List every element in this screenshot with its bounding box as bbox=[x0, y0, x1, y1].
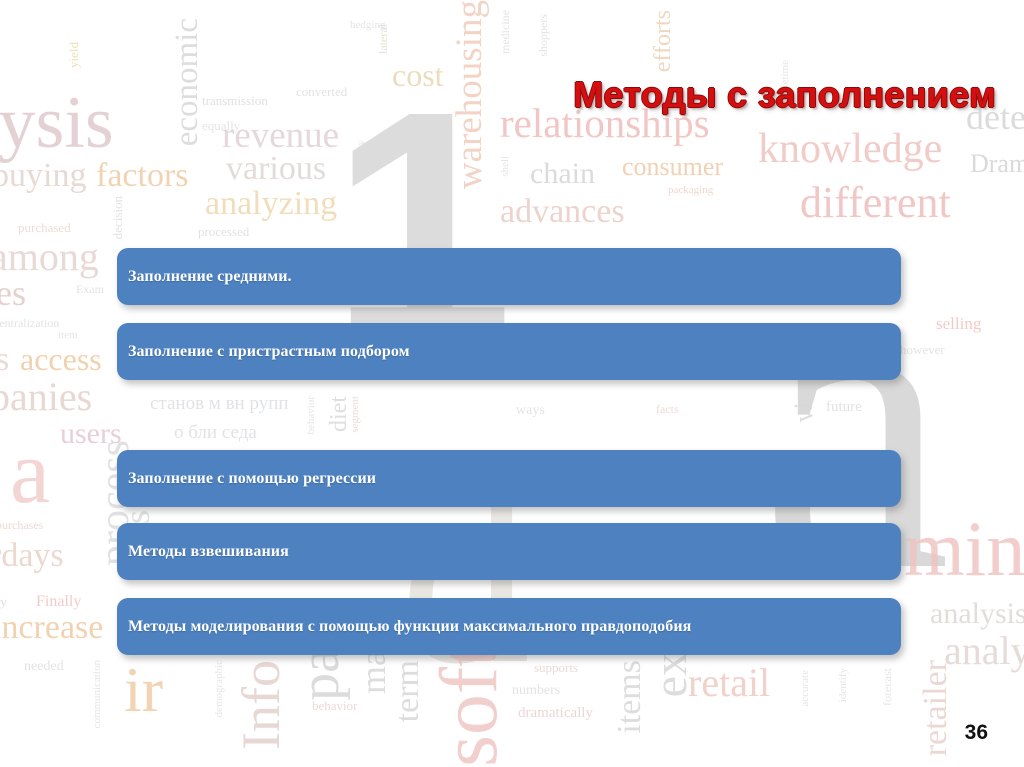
background-word: rdays bbox=[0, 540, 64, 572]
callout-box-5[interactable]: Методы моделирования с помощью функции м… bbox=[117, 598, 901, 655]
background-word: buying bbox=[0, 160, 86, 192]
background-word: users bbox=[60, 420, 122, 449]
callout-box-1[interactable]: Заполнение средними. bbox=[117, 248, 901, 305]
callout-box-2[interactable]: Заполнение с пристрастным подбором bbox=[117, 323, 901, 380]
background-word: retailer bbox=[920, 660, 952, 756]
background-word: purchased bbox=[18, 222, 71, 234]
page-number: 36 bbox=[965, 721, 988, 745]
background-word: s bbox=[0, 344, 9, 376]
background-word: access bbox=[20, 344, 102, 374]
callout-box-4[interactable]: Методы взвешивания bbox=[117, 523, 901, 580]
slide-title: Методы с заполнением bbox=[0, 74, 996, 116]
background-word: needed bbox=[24, 660, 64, 673]
background-word: es bbox=[0, 276, 26, 310]
background-word: among bbox=[0, 238, 99, 276]
callout-box-3[interactable]: Заполнение с помощью регрессии bbox=[117, 450, 901, 507]
slide-root: 1 a d lysiseconomictransmissionequallyco… bbox=[0, 0, 1024, 767]
background-word: communication bbox=[92, 660, 102, 728]
callout-label-5: Методы моделирования с помощью функции м… bbox=[117, 618, 691, 636]
background-word: increase bbox=[0, 612, 103, 644]
background-word: analy bbox=[944, 632, 1024, 670]
callout-label-4: Методы взвешивания bbox=[117, 543, 289, 561]
background-word: panies bbox=[0, 378, 92, 416]
background-word: centralization bbox=[0, 318, 59, 329]
background-word: a bbox=[10, 430, 50, 516]
background-word: ry bbox=[0, 596, 7, 608]
background-word: item bbox=[58, 330, 78, 340]
background-word: yield bbox=[68, 42, 80, 68]
callout-label-2: Заполнение с пристрастным подбором bbox=[117, 343, 410, 361]
callout-label-3: Заполнение с помощью регрессии bbox=[117, 470, 376, 488]
background-word: Dramatically bbox=[970, 152, 1024, 177]
callout-label-1: Заполнение средними. bbox=[117, 268, 292, 286]
background-word: purchases bbox=[0, 520, 43, 531]
background-word: Finally bbox=[36, 594, 81, 609]
background-word: Exam bbox=[76, 284, 104, 295]
